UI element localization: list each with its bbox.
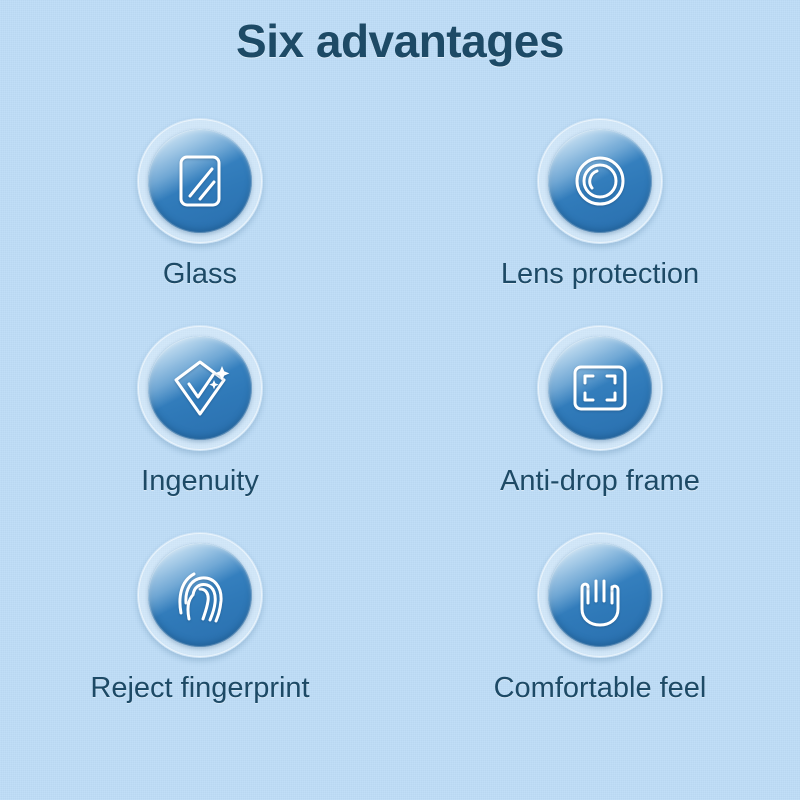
feature-label: Anti-drop frame — [500, 465, 700, 498]
feature-badge — [137, 118, 263, 244]
feature-label: Reject fingerprint — [90, 672, 309, 705]
camera-lens-icon — [548, 129, 652, 233]
feature-item-ingenuity[interactable]: Ingenuity — [70, 325, 330, 498]
feature-badge — [537, 532, 663, 658]
frame-corners-icon — [548, 336, 652, 440]
fingerprint-icon — [148, 543, 252, 647]
feature-badge — [537, 325, 663, 451]
feature-label: Comfortable feel — [494, 672, 707, 705]
feature-disc — [148, 336, 252, 440]
feature-disc — [548, 543, 652, 647]
feature-item-anti-drop-frame[interactable]: Anti-drop frame — [470, 325, 730, 498]
feature-badge — [137, 532, 263, 658]
glass-screen-icon — [148, 129, 252, 233]
page-title: Six advantages — [0, 14, 800, 68]
feature-label: Lens protection — [501, 258, 699, 291]
hand-palm-icon — [548, 543, 652, 647]
feature-badge — [537, 118, 663, 244]
feature-item-lens-protection[interactable]: Lens protection — [470, 118, 730, 291]
feature-disc — [548, 129, 652, 233]
feature-label: Glass — [163, 258, 237, 291]
feature-disc — [148, 543, 252, 647]
feature-badge — [137, 325, 263, 451]
features-row-2: Ingenuity — [0, 325, 800, 498]
feature-disc — [548, 336, 652, 440]
feature-item-reject-fingerprint[interactable]: Reject fingerprint — [70, 532, 330, 705]
feature-disc — [148, 129, 252, 233]
feature-item-comfortable-feel[interactable]: Comfortable feel — [470, 532, 730, 705]
features-grid: Glass Lens protection — [0, 118, 800, 723]
features-row-3: Reject fingerprint Comfortable feel — [0, 532, 800, 705]
six-advantages-infographic: Six advantages Glass — [0, 0, 800, 800]
diamond-check-icon — [148, 336, 252, 440]
feature-label: Ingenuity — [141, 465, 259, 498]
feature-item-glass[interactable]: Glass — [70, 118, 330, 291]
features-row-1: Glass Lens protection — [0, 118, 800, 291]
